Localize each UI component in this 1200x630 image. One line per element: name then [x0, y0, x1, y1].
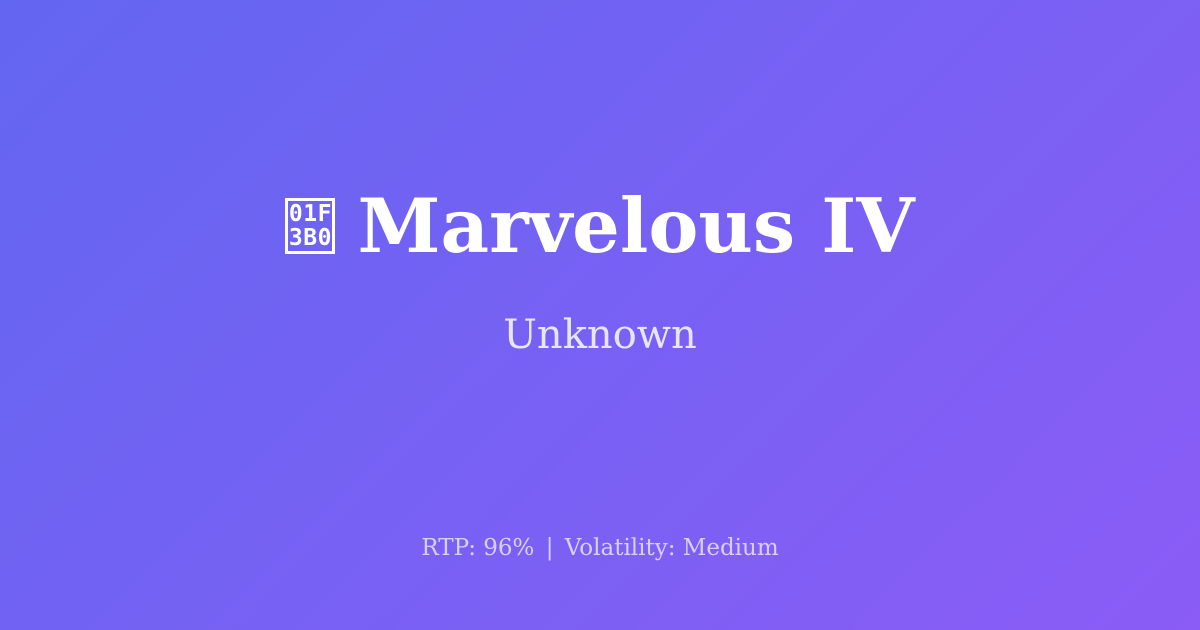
tofu-codepoint-top: 01F	[289, 202, 332, 226]
game-title-text: Marvelous IV	[357, 187, 914, 265]
volatility-label: Volatility: Medium	[565, 535, 779, 561]
tofu-codepoint-bottom: 3B0	[289, 226, 332, 250]
slot-machine-emoji-icon: 01F 3B0	[285, 198, 335, 254]
game-subtitle: Unknown	[503, 311, 697, 359]
game-meta-line: RTP: 96% | Volatility: Medium	[0, 534, 1200, 564]
game-og-card: 01F 3B0 Marvelous IV Unknown RTP: 96% | …	[0, 0, 1200, 630]
meta-separator: |	[542, 535, 558, 561]
page-title: 01F 3B0 Marvelous IV	[285, 187, 914, 265]
rtp-label: RTP: 96%	[421, 535, 534, 561]
